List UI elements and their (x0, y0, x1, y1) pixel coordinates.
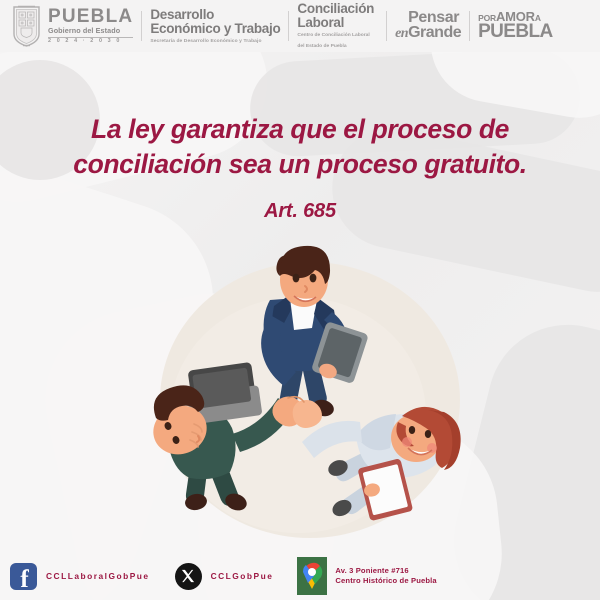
puebla-government-logo: PUEBLA Gobierno del Estado 2 0 2 4 · 2 0… (10, 4, 133, 48)
secretaria-line1: Desarrollo (150, 8, 280, 22)
header-divider-2 (288, 11, 289, 41)
facebook-handle: CCLLaboralGobPue (46, 571, 150, 581)
poster-canvas: PUEBLA Gobierno del Estado 2 0 2 4 · 2 0… (0, 0, 600, 600)
footer-bar: f CCLLaboralGobPue CCLGobPue (0, 552, 600, 600)
centro-line2: Laboral (297, 16, 374, 30)
google-maps-pin-icon[interactable] (297, 557, 327, 595)
centro-subtitle-line1: Centro de Conciliación Laboral (297, 32, 374, 39)
location-block[interactable]: Av. 3 Poniente #716 Centro Histórico de … (297, 557, 436, 595)
slogan-line2-prefix: en (395, 26, 408, 41)
address-line-1: Av. 3 Poniente #716 (335, 566, 436, 576)
x-glyph-icon (181, 569, 195, 583)
headline-line-2: conciliación sea un proceso gratuito. (0, 147, 600, 182)
pensar-en-grande-logo: Pensar enGrande (395, 11, 461, 41)
twitter-link[interactable]: CCLGobPue (175, 563, 274, 590)
centro-line1: Conciliación (297, 2, 374, 16)
centro-conciliacion-logo: Conciliación Laboral Centro de Conciliac… (297, 2, 374, 50)
address-line-2: Centro Histórico de Puebla (335, 576, 436, 586)
puebla-period: 2 0 2 4 · 2 0 3 0 (48, 37, 133, 45)
facebook-link[interactable]: f CCLLaboralGobPue (10, 563, 150, 590)
puebla-name: PUEBLA (48, 7, 133, 26)
map-pin-glyph-icon (301, 562, 323, 590)
article-reference: Art. 685 (0, 200, 600, 223)
header-divider-4 (469, 11, 470, 41)
slogan-line2: Grande (408, 24, 461, 41)
brand-header: PUEBLA Gobierno del Estado 2 0 2 4 · 2 0… (0, 0, 600, 52)
x-twitter-icon[interactable] (175, 563, 202, 590)
header-divider-3 (386, 11, 387, 41)
headline-line-1: La ley garantiza que el proceso de (0, 112, 600, 147)
puebla-coat-of-arms-icon (10, 4, 43, 48)
centro-subtitle-line2: del Estado de Puebla (297, 43, 374, 50)
secretaria-logo: Desarrollo Económico y Trabajo Secretarí… (150, 8, 280, 44)
puebla-subtitle: Gobierno del Estado (48, 27, 133, 34)
por-amor-a-puebla-logo: PORAMORA PUEBLA (478, 11, 553, 41)
secretaria-subtitle: Secretaría de Desarrollo Económico y Tra… (150, 39, 280, 44)
facebook-icon[interactable]: f (10, 563, 37, 590)
headline-block: La ley garantiza que el proceso de conci… (0, 112, 600, 182)
twitter-handle: CCLGobPue (211, 571, 274, 581)
secretaria-line2: Económico y Trabajo (150, 22, 280, 36)
amor-line2: PUEBLA (478, 23, 553, 41)
header-divider-1 (141, 11, 142, 41)
three-people-handshake-illustration (120, 240, 500, 550)
